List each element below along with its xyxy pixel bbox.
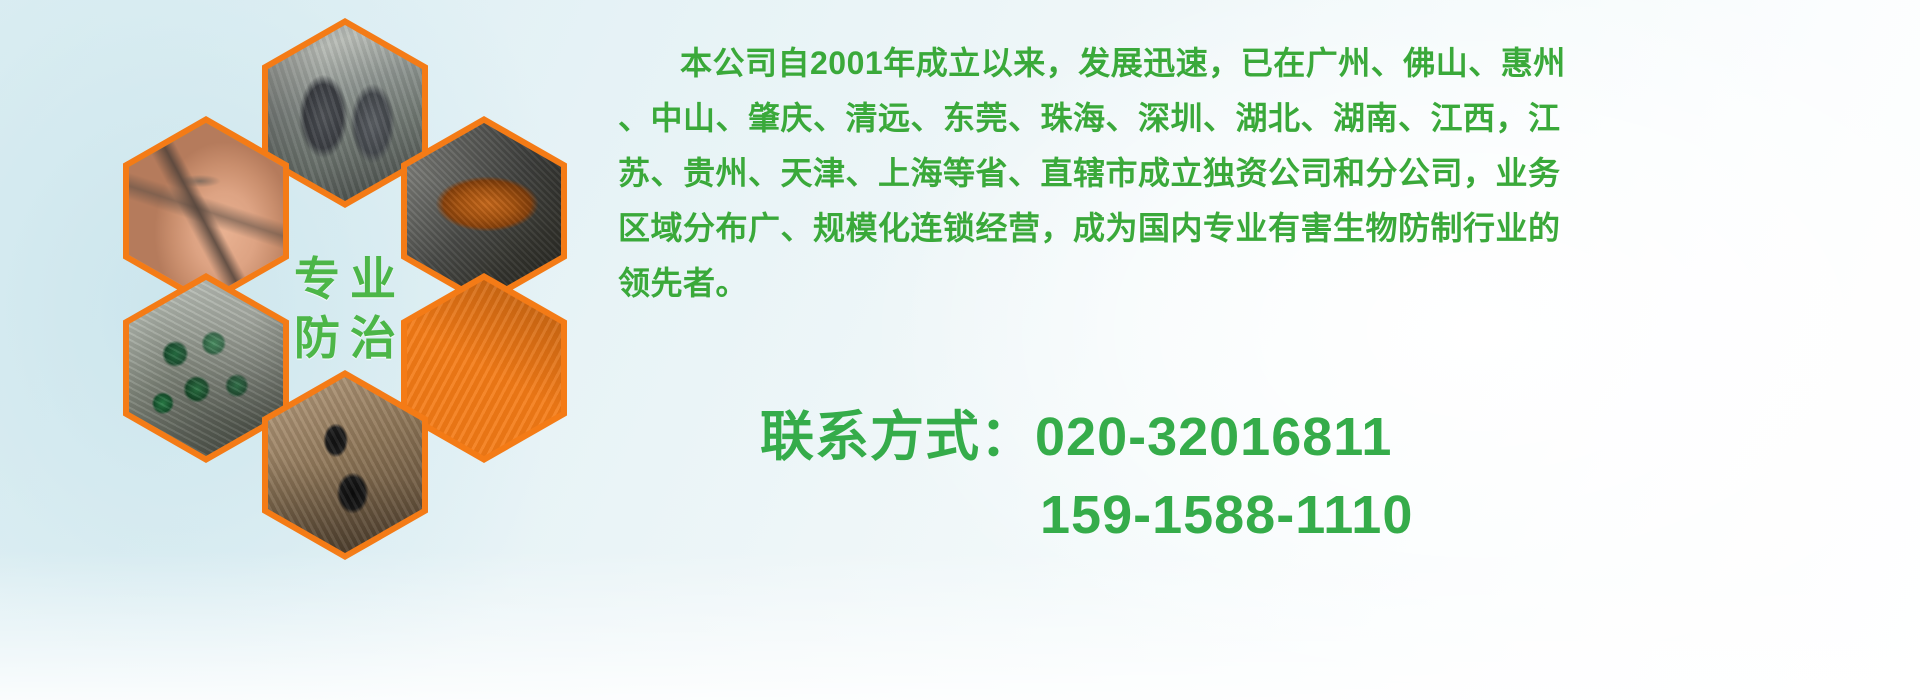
intro-line-5: 领先者。 xyxy=(618,256,1908,311)
intro-line-4: 区域分布广、规模化连锁经营，成为国内专业有害生物防制行业的 xyxy=(618,201,1908,256)
company-intro-paragraph: 本公司自2001年成立以来，发展迅速，已在广州、佛山、惠州 、中山、肇庆、清远、… xyxy=(618,36,1908,311)
intro-line-2: 、中山、肇庆、清远、东莞、珠海、深圳、湖北、湖南、江西，江 xyxy=(618,91,1908,146)
intro-line-3: 苏、贵州、天津、上海等省、直辖市成立独资公司和分公司，业务 xyxy=(618,146,1908,201)
banner: 专业 防治 本公司自2001年成立以来，发展迅速，已在广州、佛山、惠州 、中山、… xyxy=(0,0,1920,700)
slogan-line-1: 专业 xyxy=(284,255,406,304)
ants-photo xyxy=(268,377,422,553)
rats-photo xyxy=(268,25,422,201)
intro-line-1: 本公司自2001年成立以来，发展迅速，已在广州、佛山、惠州 xyxy=(618,36,1908,91)
cockroach-photo xyxy=(407,123,561,299)
mosquito-photo xyxy=(129,123,283,299)
honeycomb-image-cluster: 专业 防治 xyxy=(95,18,595,558)
slogan-line-2: 防治 xyxy=(284,314,406,363)
contact-mobile-line[interactable]: 159-1588-1110 xyxy=(760,476,1860,554)
flies-photo xyxy=(129,280,283,456)
stink-bug-photo xyxy=(407,280,561,456)
contact-landline-line[interactable]: 联系方式：020-32016811 xyxy=(760,398,1860,476)
contact-info: 联系方式：020-32016811 159-1588-1110 xyxy=(760,398,1860,554)
